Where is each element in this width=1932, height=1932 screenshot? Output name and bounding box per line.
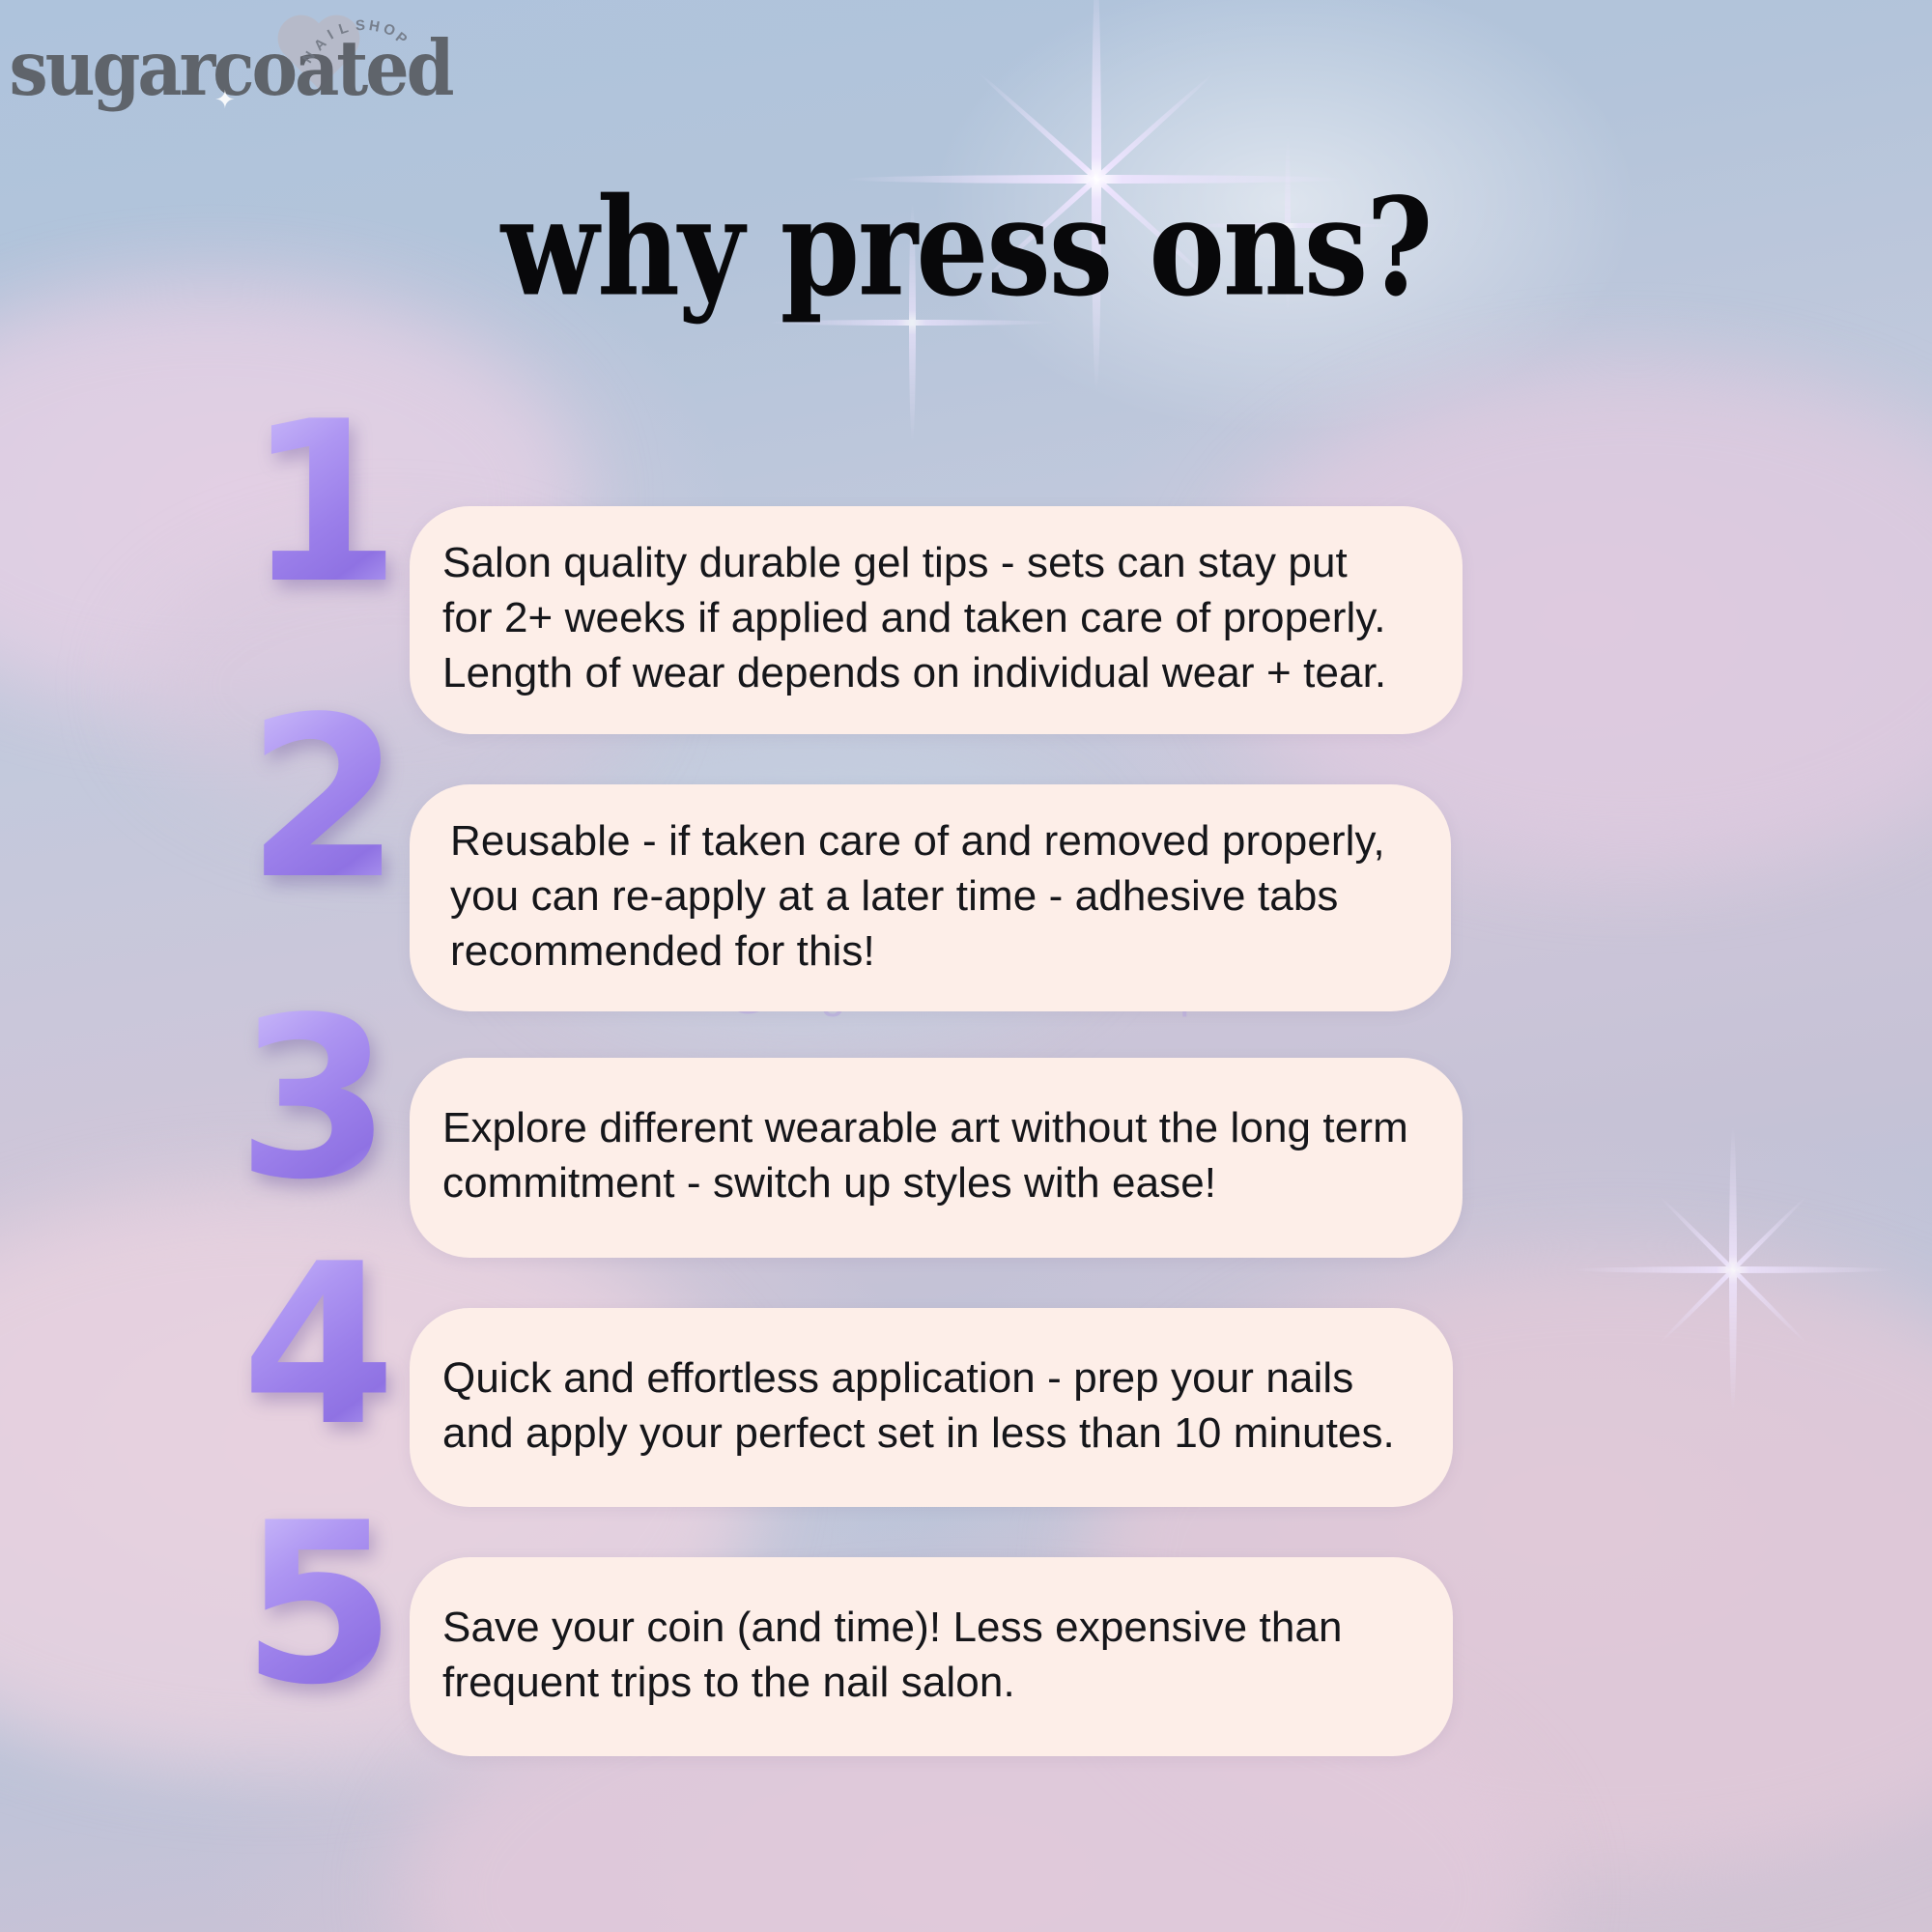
reason-card: Quick and effortless application - prep … (410, 1308, 1453, 1507)
reason-card: Save your coin (and time)! Less expensiv… (410, 1557, 1453, 1756)
reasons-list: 1 Salon quality durable gel tips - sets … (0, 506, 1932, 1795)
sparkle-icon: ✦ (214, 87, 236, 112)
reason-text: Explore different wearable art without t… (442, 1100, 1408, 1210)
item-number: 1 (246, 402, 391, 607)
reason-text: Quick and effortless application - prep … (442, 1350, 1399, 1461)
reason-card: Explore different wearable art without t… (410, 1058, 1463, 1257)
reason-text: Save your coin (and time)! Less expensiv… (442, 1600, 1399, 1710)
brand-tagline: N A I L S H O P (296, 19, 412, 87)
poster-canvas: sugarcoated ✦ N A I L S H O P why press … (0, 0, 1932, 1932)
brand-logo[interactable]: sugarcoated ✦ N A I L S H O P (14, 35, 447, 102)
reason-card: Reusable - if taken care of and removed … (410, 784, 1451, 1012)
item-number: 5 (241, 1503, 386, 1708)
reason-card: Salon quality durable gel tips - sets ca… (410, 506, 1463, 734)
item-number: 2 (246, 697, 391, 902)
reason-text: Salon quality durable gel tips - sets ca… (442, 535, 1408, 701)
page-title: why press ons? (0, 167, 1932, 326)
item-number: 4 (241, 1244, 386, 1449)
item-number: 3 (237, 998, 382, 1203)
reason-text: Reusable - if taken care of and removed … (450, 813, 1397, 980)
list-item: 5 Save your coin (and time)! Less expens… (0, 1557, 1932, 1756)
